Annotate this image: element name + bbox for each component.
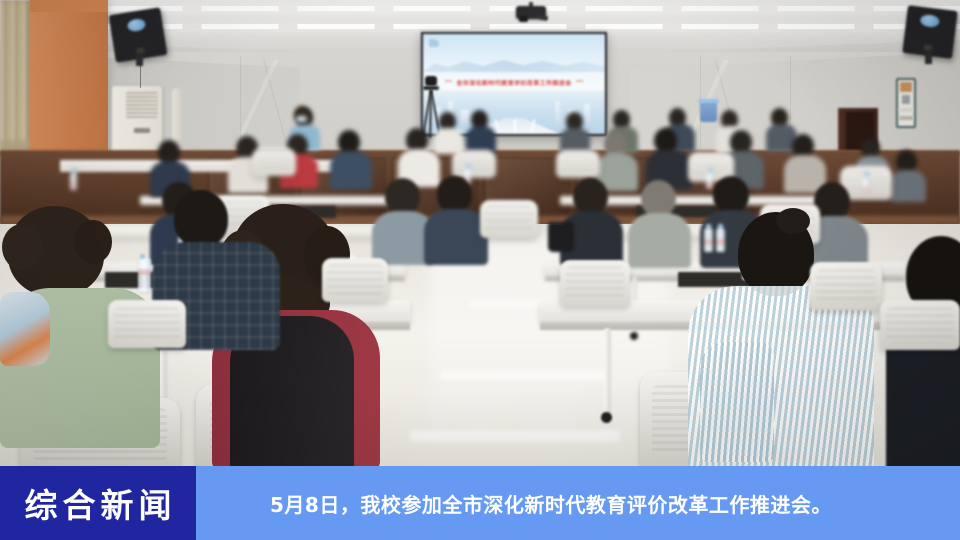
caption-bar: 综合新闻 5月8日，我校参加全市深化新时代教育评价改革工作推进会。 — [0, 466, 960, 540]
conference-photo: 全市深化新时代教育评价改革工作推进会 — [0, 0, 960, 466]
trash-bin — [700, 101, 717, 122]
category-badge: 综合新闻 — [0, 466, 196, 540]
air-conditioner-grill — [126, 92, 158, 118]
speaker-icon — [902, 5, 957, 59]
headline-text: 5月8日，我校参加全市深化新时代教育评价改革工作推进会。 — [196, 489, 832, 518]
ceiling-projector-icon — [512, 2, 552, 24]
news-photo-frame: 全市深化新时代教育评价改革工作推进会 — [0, 0, 960, 540]
orange-wall-pillar — [30, 0, 108, 160]
control-panel-button — [902, 95, 910, 104]
camera-icon — [425, 76, 437, 86]
control-panel-display — [900, 82, 912, 92]
window-curtain — [0, 0, 34, 152]
slide-title-text: 全市深化新时代教育评价改革工作推进会 — [423, 78, 605, 87]
scarf — [0, 292, 50, 366]
slide-logo-icon — [429, 39, 439, 47]
category-label: 综合新闻 — [20, 479, 177, 527]
water-bottle — [138, 258, 151, 292]
headline-container: 5月8日，我校参加全市深化新时代教育评价改革工作推进会。 — [196, 466, 960, 540]
